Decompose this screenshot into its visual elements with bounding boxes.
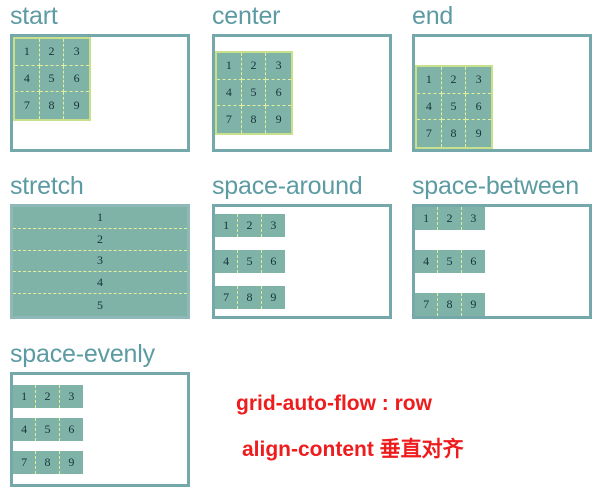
- grid-cell: 4: [15, 66, 40, 93]
- panel-box-space-evenly: 1 2 3 4 5 6 7 8 9: [10, 372, 190, 487]
- grid-cell: 6: [466, 94, 491, 121]
- grid-cell: 7: [13, 451, 36, 474]
- grid-3x3: 1 2 3 4 5 6 7 8 9: [415, 65, 493, 149]
- grid-row: 3: [13, 251, 187, 273]
- grid-cell: 6: [462, 250, 485, 273]
- grid-cell: 8: [36, 451, 59, 474]
- grid-cell: 7: [217, 106, 242, 133]
- grid-cell: 9: [60, 451, 83, 474]
- grid-cell: 4: [415, 250, 438, 273]
- panel-box-space-between: 1 2 3 4 5 6 7 8 9: [412, 204, 592, 319]
- grid-cell: 3: [262, 214, 285, 237]
- grid-cell: 5: [238, 250, 261, 273]
- grid-cell: 9: [266, 106, 291, 133]
- panel-space-between: space-between 1 2 3 4 5 6 7 8 9: [412, 172, 592, 319]
- grid-cell: 6: [60, 418, 83, 441]
- panel-title-start: start: [10, 2, 190, 30]
- grid-cell: 5: [438, 250, 461, 273]
- grid-cell: 3: [64, 39, 89, 66]
- grid-cell: 1: [415, 207, 438, 230]
- grid-row: 7 8 9: [415, 293, 485, 316]
- panel-stretch: stretch 1 2 3 4 5: [10, 172, 190, 319]
- grid-cell: 3: [466, 67, 491, 94]
- grid-cell: 3: [462, 207, 485, 230]
- panel-title-stretch: stretch: [10, 172, 190, 200]
- grid-cell: 9: [466, 120, 491, 147]
- grid-cell: 6: [262, 250, 285, 273]
- panel-box-center: 1 2 3 4 5 6 7 8 9: [212, 34, 392, 152]
- panel-center: center 1 2 3 4 5 6 7 8 9: [212, 2, 392, 152]
- panel-end: end 1 2 3 4 5 6 7 8 9: [412, 2, 592, 152]
- grid-cell: 1: [417, 67, 442, 94]
- grid-row: 1 2 3: [415, 207, 485, 230]
- grid-cell: 1: [13, 385, 36, 408]
- grid-cell: 3: [60, 385, 83, 408]
- grid-cell: 2: [242, 53, 267, 80]
- grid-cell: 1: [215, 214, 238, 237]
- grid-cell: 1: [217, 53, 242, 80]
- grid-cell: 4: [217, 80, 242, 107]
- panel-title-space-around: space-around: [212, 172, 392, 200]
- grid-cell: 5: [242, 80, 267, 107]
- grid-row: 1: [13, 207, 187, 229]
- grid-cell: 7: [215, 286, 238, 309]
- grid-cell: 5: [40, 66, 65, 93]
- grid-cell: 6: [64, 66, 89, 93]
- panel-title-space-between: space-between: [412, 172, 592, 200]
- grid-cell: 4: [417, 94, 442, 121]
- panel-box-stretch: 1 2 3 4 5: [10, 204, 190, 319]
- grid-cell: 5: [442, 94, 467, 121]
- grid-cell: 8: [238, 286, 261, 309]
- grid-3x3: 1 2 3 4 5 6 7 8 9: [13, 37, 91, 121]
- grid-cell: 3: [266, 53, 291, 80]
- grid-cell: 2: [438, 207, 461, 230]
- panel-space-evenly: space-evenly 1 2 3 4 5 6 7 8 9: [10, 340, 190, 487]
- grid-cell: 8: [442, 120, 467, 147]
- grid-cell: 7: [417, 120, 442, 147]
- grid-cell: 9: [462, 293, 485, 316]
- grid-row: 7 8 9: [13, 451, 83, 474]
- grid-row: 4 5 6: [415, 250, 485, 273]
- grid-cell: 8: [40, 92, 65, 119]
- grid-cell: 4: [215, 250, 238, 273]
- grid-cell: 1: [15, 39, 40, 66]
- grid-row: 4 5 6: [13, 418, 83, 441]
- panel-box-space-around: 1 2 3 4 5 6 7 8 9: [212, 204, 392, 319]
- grid-row: 2: [13, 229, 187, 251]
- grid-cell: 9: [262, 286, 285, 309]
- grid-cell: 7: [15, 92, 40, 119]
- grid-stretch-rows: 1 2 3 4 5: [13, 207, 187, 316]
- grid-cell: 8: [438, 293, 461, 316]
- grid-cell: 9: [64, 92, 89, 119]
- caption-line-grid-auto-flow: grid-auto-flow : row: [236, 392, 432, 416]
- panel-title-center: center: [212, 2, 392, 30]
- grid-row: 1 2 3: [215, 214, 285, 237]
- panel-box-end: 1 2 3 4 5 6 7 8 9: [412, 34, 592, 152]
- panel-box-start: 1 2 3 4 5 6 7 8 9: [10, 34, 190, 152]
- caption-line-align-content: align-content 垂直对齐: [242, 433, 464, 463]
- grid-cell: 8: [242, 106, 267, 133]
- grid-cell: 6: [266, 80, 291, 107]
- grid-cell: 7: [415, 293, 438, 316]
- panel-space-around: space-around 1 2 3 4 5 6 7 8 9: [212, 172, 392, 319]
- grid-cell: 2: [36, 385, 59, 408]
- panel-start: start 1 2 3 4 5 6 7 8 9: [10, 2, 190, 152]
- grid-cell: 2: [442, 67, 467, 94]
- panel-title-end: end: [412, 2, 592, 30]
- grid-cell: 4: [13, 418, 36, 441]
- grid-row: 1 2 3: [13, 385, 83, 408]
- grid-3x3: 1 2 3 4 5 6 7 8 9: [215, 51, 293, 135]
- grid-cell: 5: [36, 418, 59, 441]
- panel-title-space-evenly: space-evenly: [10, 340, 190, 368]
- grid-cell: 2: [238, 214, 261, 237]
- grid-row: 5: [13, 294, 187, 316]
- grid-row: 7 8 9: [215, 286, 285, 309]
- grid-row: 4 5 6: [215, 250, 285, 273]
- grid-row: 4: [13, 272, 187, 294]
- grid-cell: 2: [40, 39, 65, 66]
